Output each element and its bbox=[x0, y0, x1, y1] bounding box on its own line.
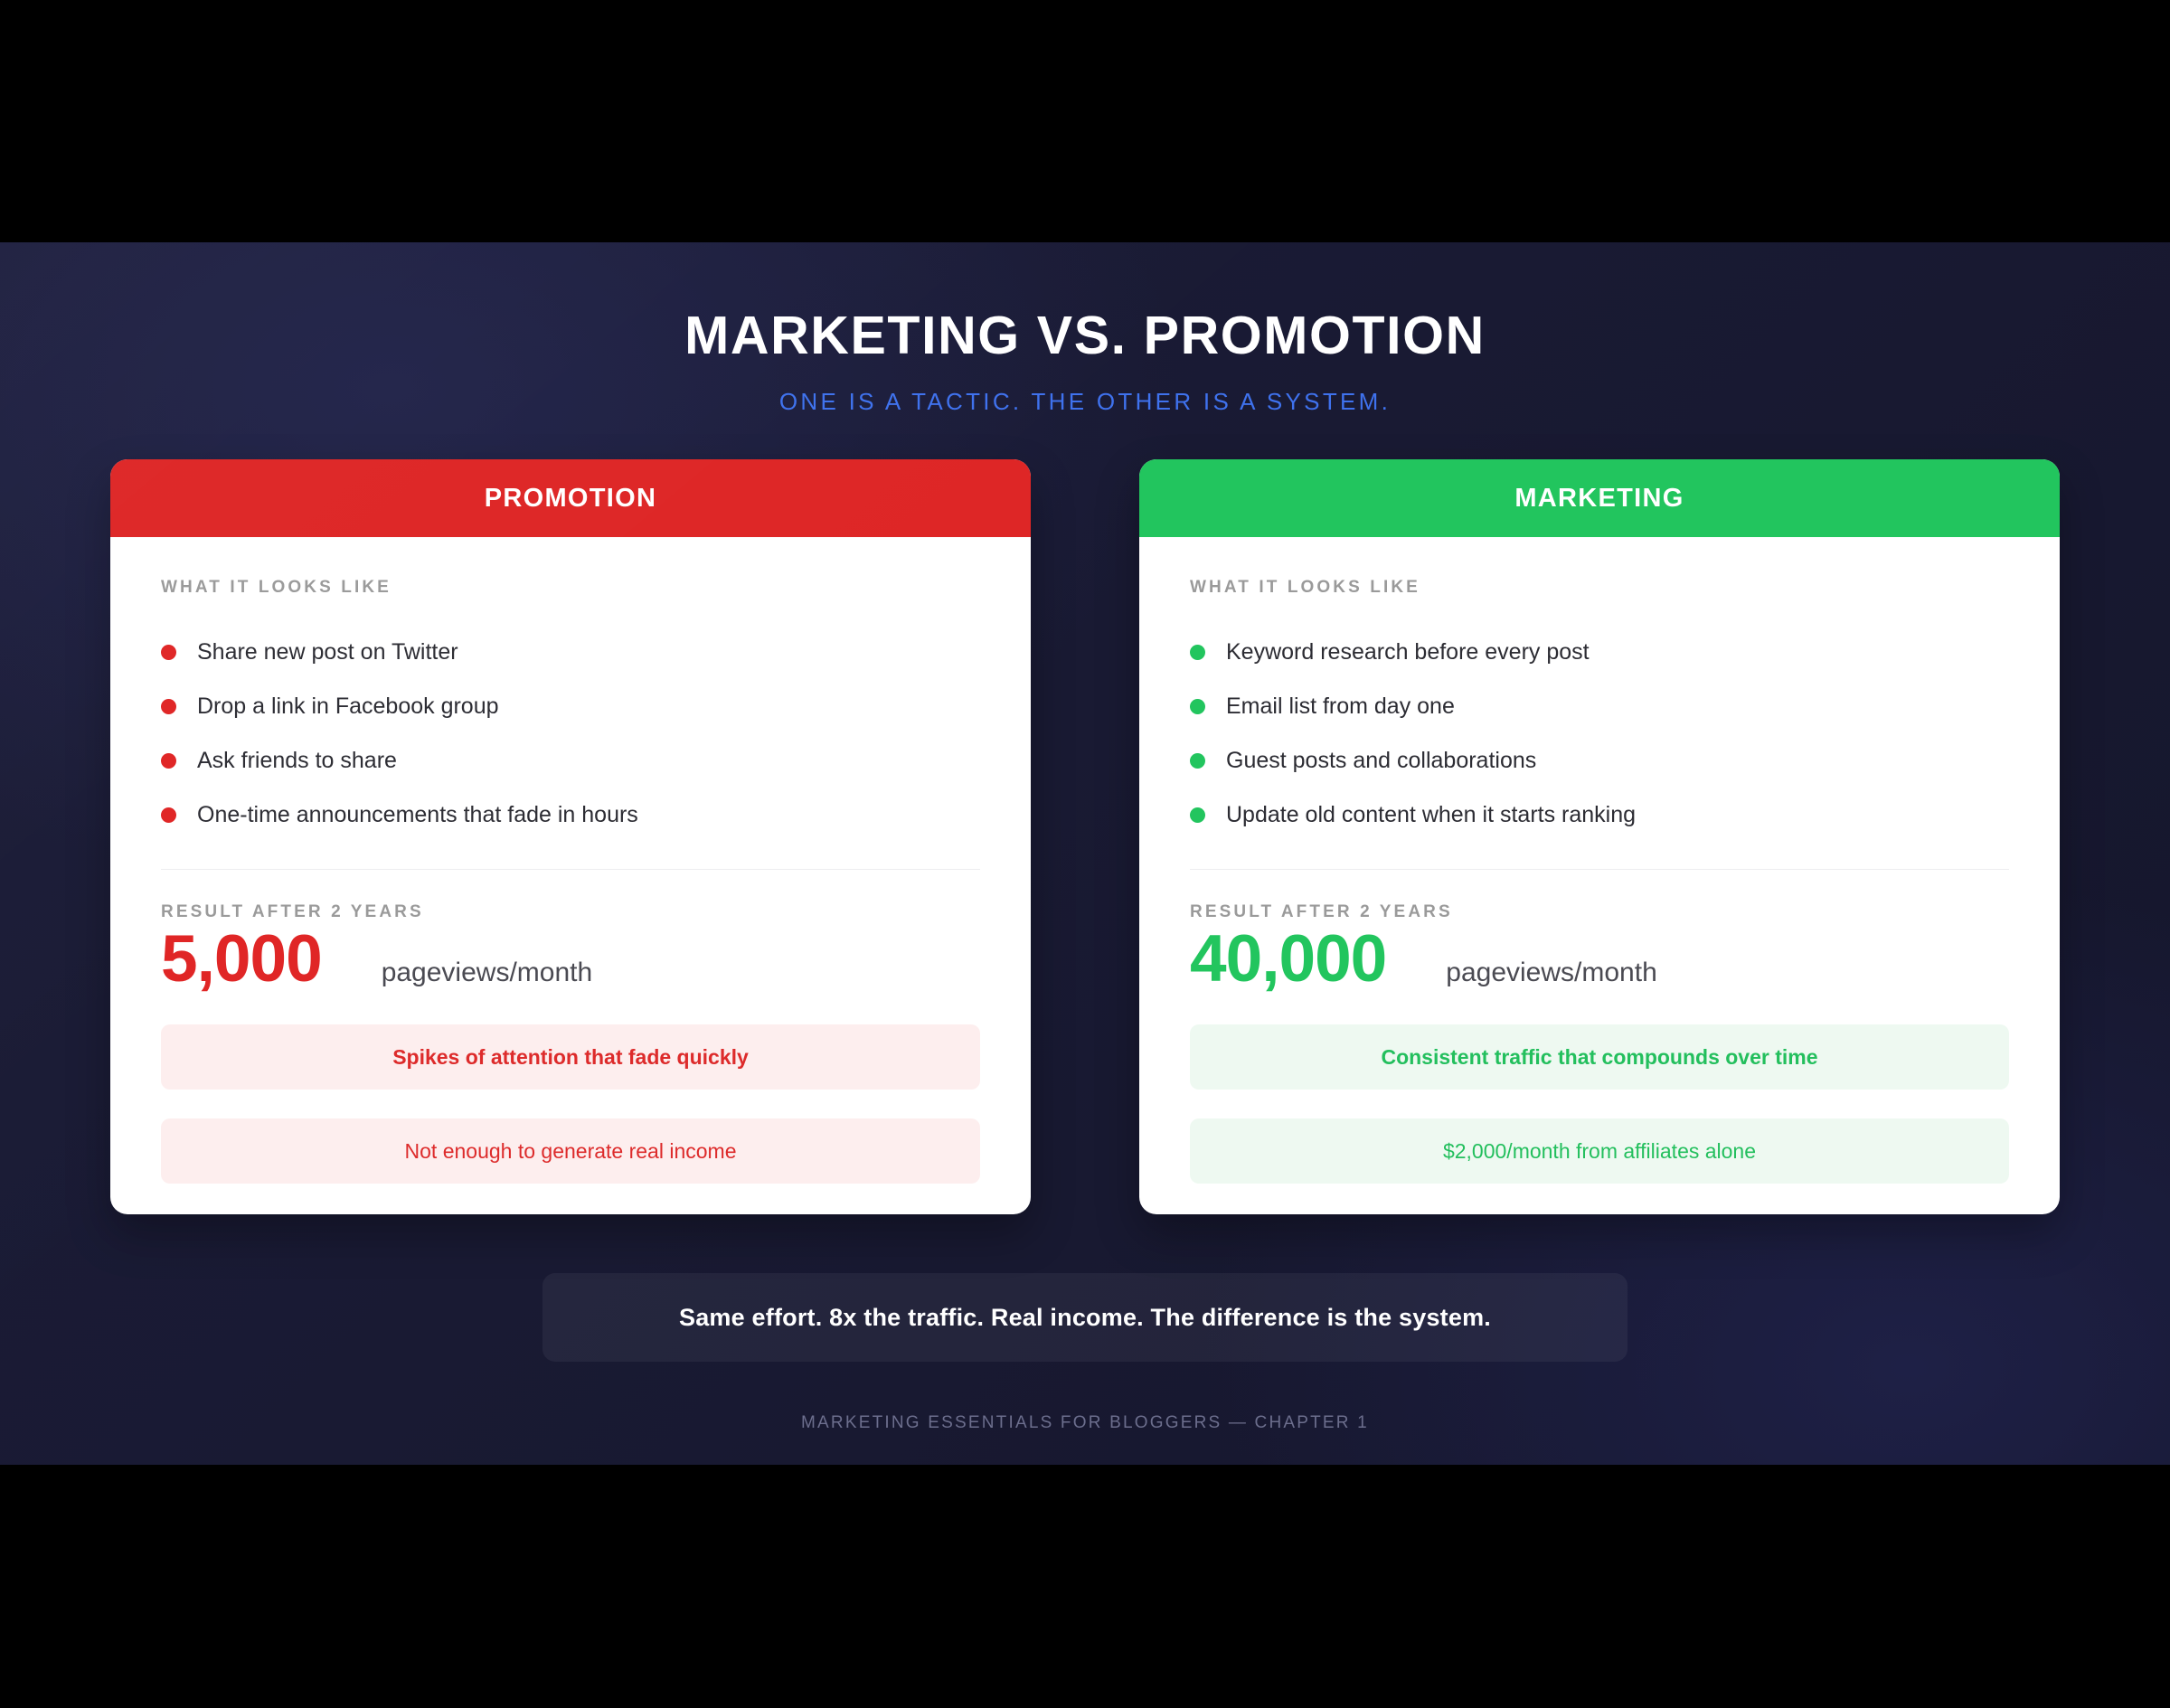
list-item-label: Share new post on Twitter bbox=[197, 638, 458, 665]
list-item: Guest posts and collaborations bbox=[1190, 733, 2009, 788]
bullet-dot-icon bbox=[1190, 645, 1205, 660]
promotion-result-block: RESULT AFTER 2 YEARS 5,000 pageviews/mon… bbox=[161, 903, 980, 992]
promotion-bullet-list: Share new post on Twitter Drop a link in… bbox=[161, 625, 980, 842]
list-item-label: Drop a link in Facebook group bbox=[197, 693, 499, 720]
promotion-card-body: WHAT IT LOOKS LIKE Share new post on Twi… bbox=[110, 537, 1031, 1214]
list-item: Drop a link in Facebook group bbox=[161, 679, 980, 733]
marketing-card-header: MARKETING bbox=[1139, 459, 2060, 537]
list-item: Update old content when it starts rankin… bbox=[1190, 788, 2009, 842]
page-title: MARKETING VS. PROMOTION bbox=[0, 309, 2170, 363]
list-item-label: One-time announcements that fade in hour… bbox=[197, 801, 638, 828]
bullet-dot-icon bbox=[161, 807, 176, 823]
bullet-dot-icon bbox=[161, 753, 176, 769]
bullet-dot-icon bbox=[161, 699, 176, 714]
list-item-label: Ask friends to share bbox=[197, 747, 397, 774]
marketing-callout-primary: Consistent traffic that compounds over t… bbox=[1190, 1024, 2009, 1090]
marketing-result-label: RESULT AFTER 2 YEARS bbox=[1190, 903, 2009, 920]
slide-header: MARKETING VS. PROMOTION ONE IS A TACTIC.… bbox=[0, 242, 2170, 413]
promotion-result-unit: pageviews/month bbox=[382, 959, 592, 986]
list-item-label: Guest posts and collaborations bbox=[1226, 747, 1536, 774]
promotion-card-header: PROMOTION bbox=[110, 459, 1031, 537]
list-item: One-time announcements that fade in hour… bbox=[161, 788, 980, 842]
list-item-label: Update old content when it starts rankin… bbox=[1226, 801, 1636, 828]
promotion-result-value: 5,000 bbox=[161, 926, 322, 992]
card-divider bbox=[161, 869, 980, 870]
marketing-card-body: WHAT IT LOOKS LIKE Keyword research befo… bbox=[1139, 537, 2060, 1214]
promotion-callout-primary: Spikes of attention that fade quickly bbox=[161, 1024, 980, 1090]
bullet-dot-icon bbox=[1190, 753, 1205, 769]
promotion-result-label: RESULT AFTER 2 YEARS bbox=[161, 903, 980, 920]
marketing-bullet-list: Keyword research before every post Email… bbox=[1190, 625, 2009, 842]
list-item-label: Keyword research before every post bbox=[1226, 638, 1590, 665]
promotion-result-row: 5,000 pageviews/month bbox=[161, 926, 980, 992]
marketing-result-unit: pageviews/month bbox=[1446, 959, 1656, 986]
list-item: Keyword research before every post bbox=[1190, 625, 2009, 679]
marketing-result-block: RESULT AFTER 2 YEARS 40,000 pageviews/mo… bbox=[1190, 903, 2009, 992]
marketing-result-value: 40,000 bbox=[1190, 926, 1386, 992]
footer-caption: MARKETING ESSENTIALS FOR BLOGGERS — CHAP… bbox=[0, 1413, 2170, 1433]
marketing-eyebrow-label: WHAT IT LOOKS LIKE bbox=[1190, 579, 2009, 596]
list-item: Email list from day one bbox=[1190, 679, 2009, 733]
bullet-dot-icon bbox=[161, 645, 176, 660]
marketing-card: MARKETING WHAT IT LOOKS LIKE Keyword res… bbox=[1139, 459, 2060, 1214]
bullet-dot-icon bbox=[1190, 699, 1205, 714]
page-subtitle: ONE IS A TACTIC. THE OTHER IS A SYSTEM. bbox=[0, 390, 2170, 413]
card-divider bbox=[1190, 869, 2009, 870]
comparison-cards: PROMOTION WHAT IT LOOKS LIKE Share new p… bbox=[110, 459, 2060, 1214]
promotion-callout-secondary: Not enough to generate real income bbox=[161, 1118, 980, 1184]
list-item-label: Email list from day one bbox=[1226, 693, 1455, 720]
list-item: Ask friends to share bbox=[161, 733, 980, 788]
marketing-result-row: 40,000 pageviews/month bbox=[1190, 926, 2009, 992]
promotion-card: PROMOTION WHAT IT LOOKS LIKE Share new p… bbox=[110, 459, 1031, 1214]
promotion-callouts: Spikes of attention that fade quickly No… bbox=[161, 1024, 980, 1214]
promotion-eyebrow-label: WHAT IT LOOKS LIKE bbox=[161, 579, 980, 596]
list-item: Share new post on Twitter bbox=[161, 625, 980, 679]
bullet-dot-icon bbox=[1190, 807, 1205, 823]
slide-content-area: MARKETING VS. PROMOTION ONE IS A TACTIC.… bbox=[0, 242, 2170, 1465]
marketing-callout-secondary: $2,000/month from affiliates alone bbox=[1190, 1118, 2009, 1184]
marketing-callouts: Consistent traffic that compounds over t… bbox=[1190, 1024, 2009, 1214]
summary-banner: Same effort. 8x the traffic. Real income… bbox=[542, 1273, 1627, 1362]
slide-canvas: MARKETING VS. PROMOTION ONE IS A TACTIC.… bbox=[0, 0, 2170, 1708]
